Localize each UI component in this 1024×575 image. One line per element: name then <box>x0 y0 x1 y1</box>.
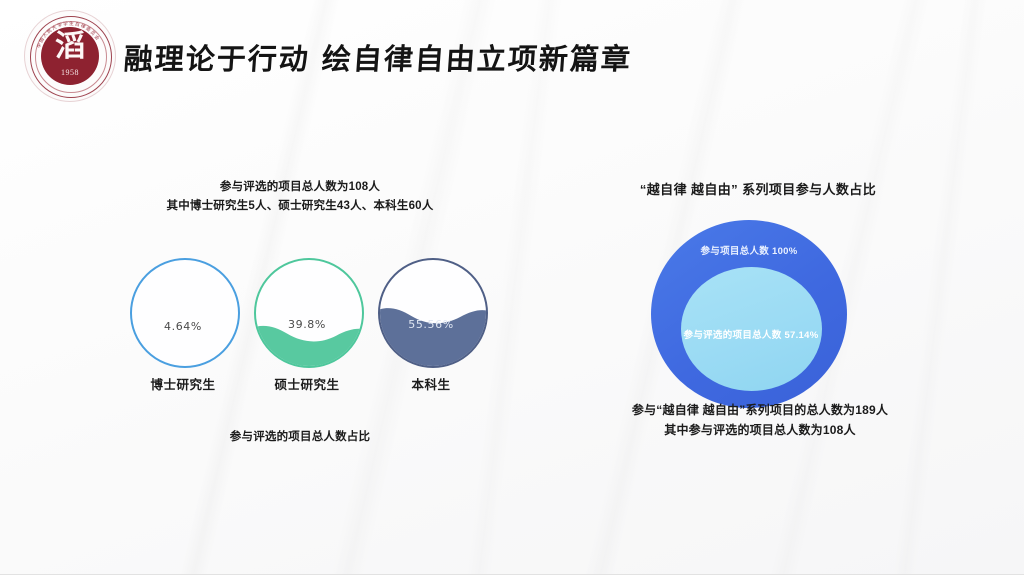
right-caption: 参与“越自律 越自由”系列项目的总人数为189人 其中参与评选的项目总人数为10… <box>588 400 932 440</box>
gauge-water-undergraduate <box>378 302 488 368</box>
gauge-label-undergraduate: 本科生 <box>368 374 494 393</box>
liquid-gauge-master: 39.8% 硕士研究生 <box>254 258 366 398</box>
university-seal-logo: 中国人民大学学生自律委员会 S T U D E N T U N I O N 滔 … <box>24 10 116 102</box>
inner-circle-label: 参与评选的项目总人数 57.14% <box>651 327 851 341</box>
gauge-ring-undergraduate <box>378 258 488 368</box>
gauge-ring-doctoral <box>130 258 240 368</box>
gauge-water-doctoral <box>130 354 240 368</box>
liquid-gauge-group: 4.64% 博士研究生 39.8% 硕士研究生 <box>130 258 505 418</box>
right-panel-title: “越自律 越自由” 系列项目参与人数占比 <box>588 179 928 198</box>
slide-canvas: 中国人民大学学生自律委员会 S T U D E N T U N I O N 滔 … <box>0 0 1024 575</box>
gauge-ring-master <box>254 258 364 368</box>
left-sub-caption: 参与评选的项目总人数占比 <box>170 428 430 444</box>
page-title: 融理论于行动 绘自律自由立项新篇章 <box>123 36 634 78</box>
left-caption: 参与评选的项目总人数为108人 其中博士研究生5人、硕士研究生43人、本科生60… <box>120 178 480 216</box>
seal-year: 1958 <box>41 66 99 80</box>
left-caption-line-1: 参与评选的项目总人数为108人 <box>120 178 480 197</box>
slide-header: 中国人民大学学生自律委员会 S T U D E N T U N I O N 滔 … <box>0 0 1024 112</box>
gauge-label-master: 硕士研究生 <box>244 374 370 393</box>
outer-circle-label: 参与项目总人数 100% <box>651 243 847 257</box>
gauge-value-doctoral: 4.64% <box>130 320 236 333</box>
right-caption-line-1: 参与“越自律 越自由”系列项目的总人数为189人 <box>588 400 932 420</box>
liquid-gauge-undergraduate: 55.56% 本科生 <box>378 258 490 398</box>
gauge-label-doctoral: 博士研究生 <box>120 374 246 393</box>
left-caption-line-2: 其中博士研究生5人、硕士研究生43人、本科生60人 <box>120 197 480 216</box>
gauge-value-master: 39.8% <box>254 318 360 331</box>
gauge-value-undergraduate: 55.56% <box>378 318 484 331</box>
liquid-gauge-doctoral: 4.64% 博士研究生 <box>130 258 242 398</box>
right-caption-line-2: 其中参与评选的项目总人数为108人 <box>588 420 932 440</box>
seal-character: 滔 <box>41 24 99 70</box>
